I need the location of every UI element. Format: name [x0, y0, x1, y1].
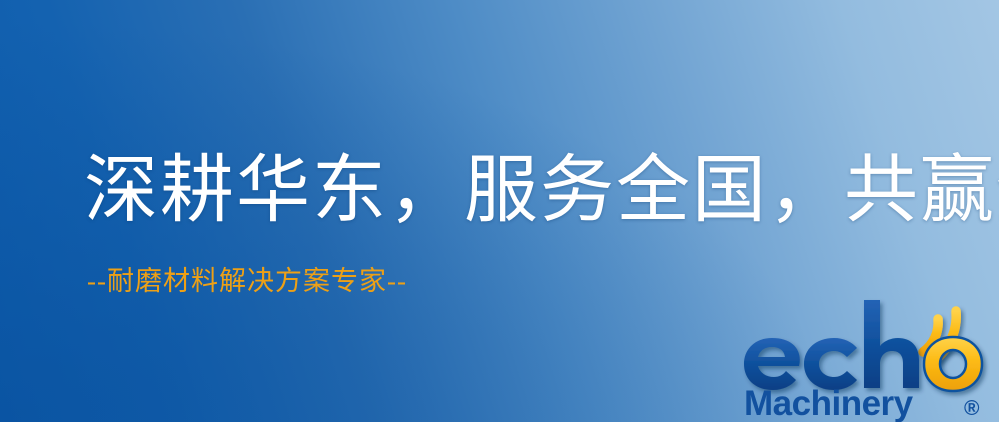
- registered-trademark-icon: ®: [964, 397, 980, 420]
- banner-headline: 深耕华东，服务全国，共赢全球: [84, 152, 954, 230]
- logo-letter-h: [864, 300, 919, 388]
- logo-letter-o: [924, 337, 982, 391]
- echo-machinery-logo: Machinery ®: [742, 292, 994, 422]
- logo-letter-e: [744, 338, 800, 390]
- logo-subtext: Machinery: [744, 384, 914, 422]
- promotional-banner: 深耕华东，服务全国，共赢全球 --耐磨材料解决方案专家--: [0, 0, 999, 422]
- banner-subtitle: --耐磨材料解决方案专家--: [87, 266, 407, 296]
- logo-letter-c: [804, 338, 857, 390]
